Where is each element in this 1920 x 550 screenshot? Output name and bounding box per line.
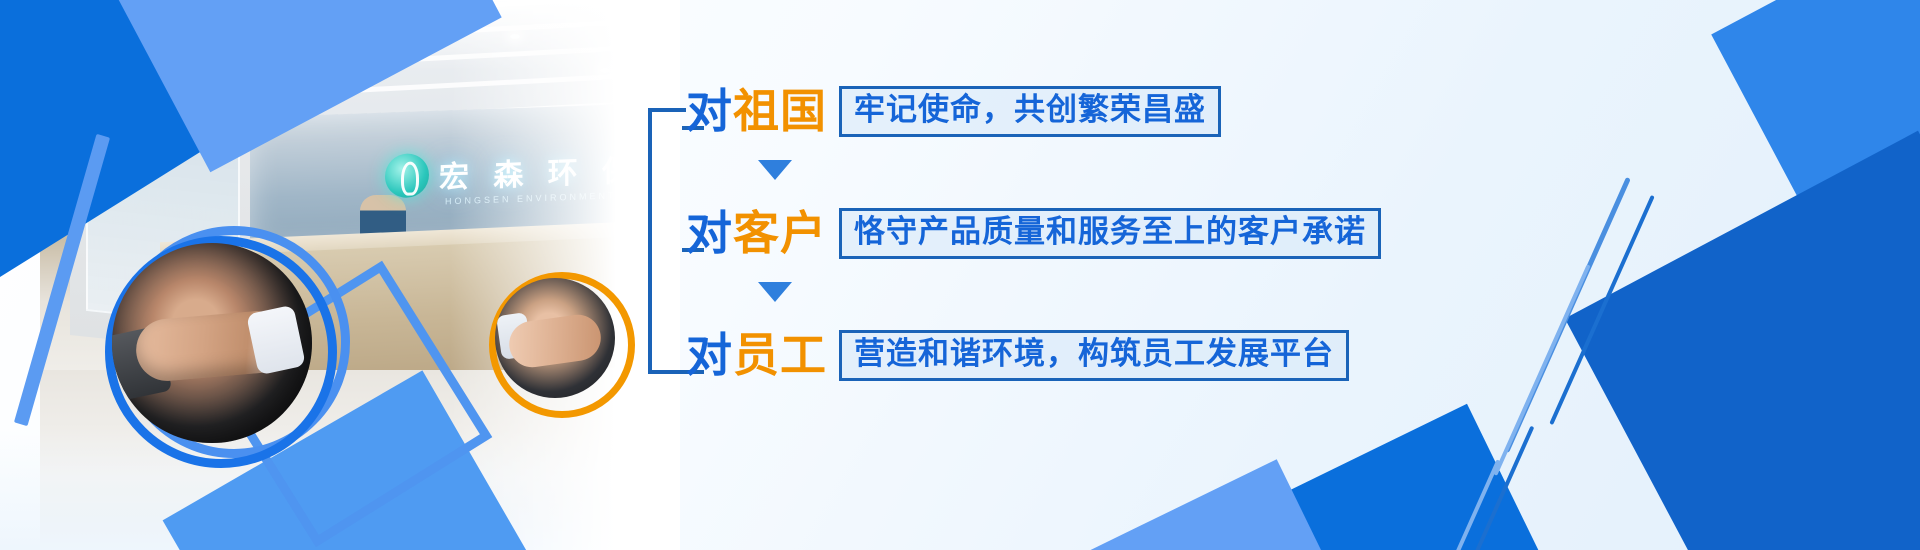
value-prefix-employee: 对员工 bbox=[686, 332, 827, 378]
value-statement-employee: 营造和谐环境，构筑员工发展平台 bbox=[839, 330, 1349, 381]
value-statement-country: 牢记使命，共创繁荣昌盛 bbox=[839, 86, 1221, 137]
company-logo-icon bbox=[385, 153, 429, 199]
value-row-customer: 对客户 恪守产品质量和服务至上的客户承诺 bbox=[686, 208, 1381, 259]
value-row-employee: 对员工 营造和谐环境，构筑员工发展平台 bbox=[686, 330, 1349, 381]
bracket-connector bbox=[648, 108, 686, 374]
values-list: 对祖国 牢记使命，共创繁荣昌盛 对客户 恪守产品质量和服务至上的客户承诺 对员工… bbox=[648, 86, 1388, 386]
decor-line-5 bbox=[1448, 459, 1500, 550]
value-row-country: 对祖国 牢记使命，共创繁荣昌盛 bbox=[686, 86, 1221, 137]
company-values-banner: 宏 森 环 保 HONGSEN ENVIRONMENTAL 对祖国 bbox=[0, 0, 1920, 550]
arrow-down-icon-1 bbox=[758, 160, 792, 180]
decor-bottom-right-light bbox=[1070, 459, 1360, 550]
value-prefix-customer: 对客户 bbox=[686, 210, 827, 256]
value-statement-customer: 恪守产品质量和服务至上的客户承诺 bbox=[839, 208, 1381, 259]
decor-top-right-light bbox=[1711, 0, 1920, 238]
applause-photo bbox=[495, 278, 615, 398]
decor-line-4 bbox=[1470, 426, 1535, 550]
handshake-photo bbox=[112, 243, 312, 443]
value-prefix-country: 对祖国 bbox=[686, 88, 827, 134]
arrow-down-icon-2 bbox=[758, 282, 792, 302]
